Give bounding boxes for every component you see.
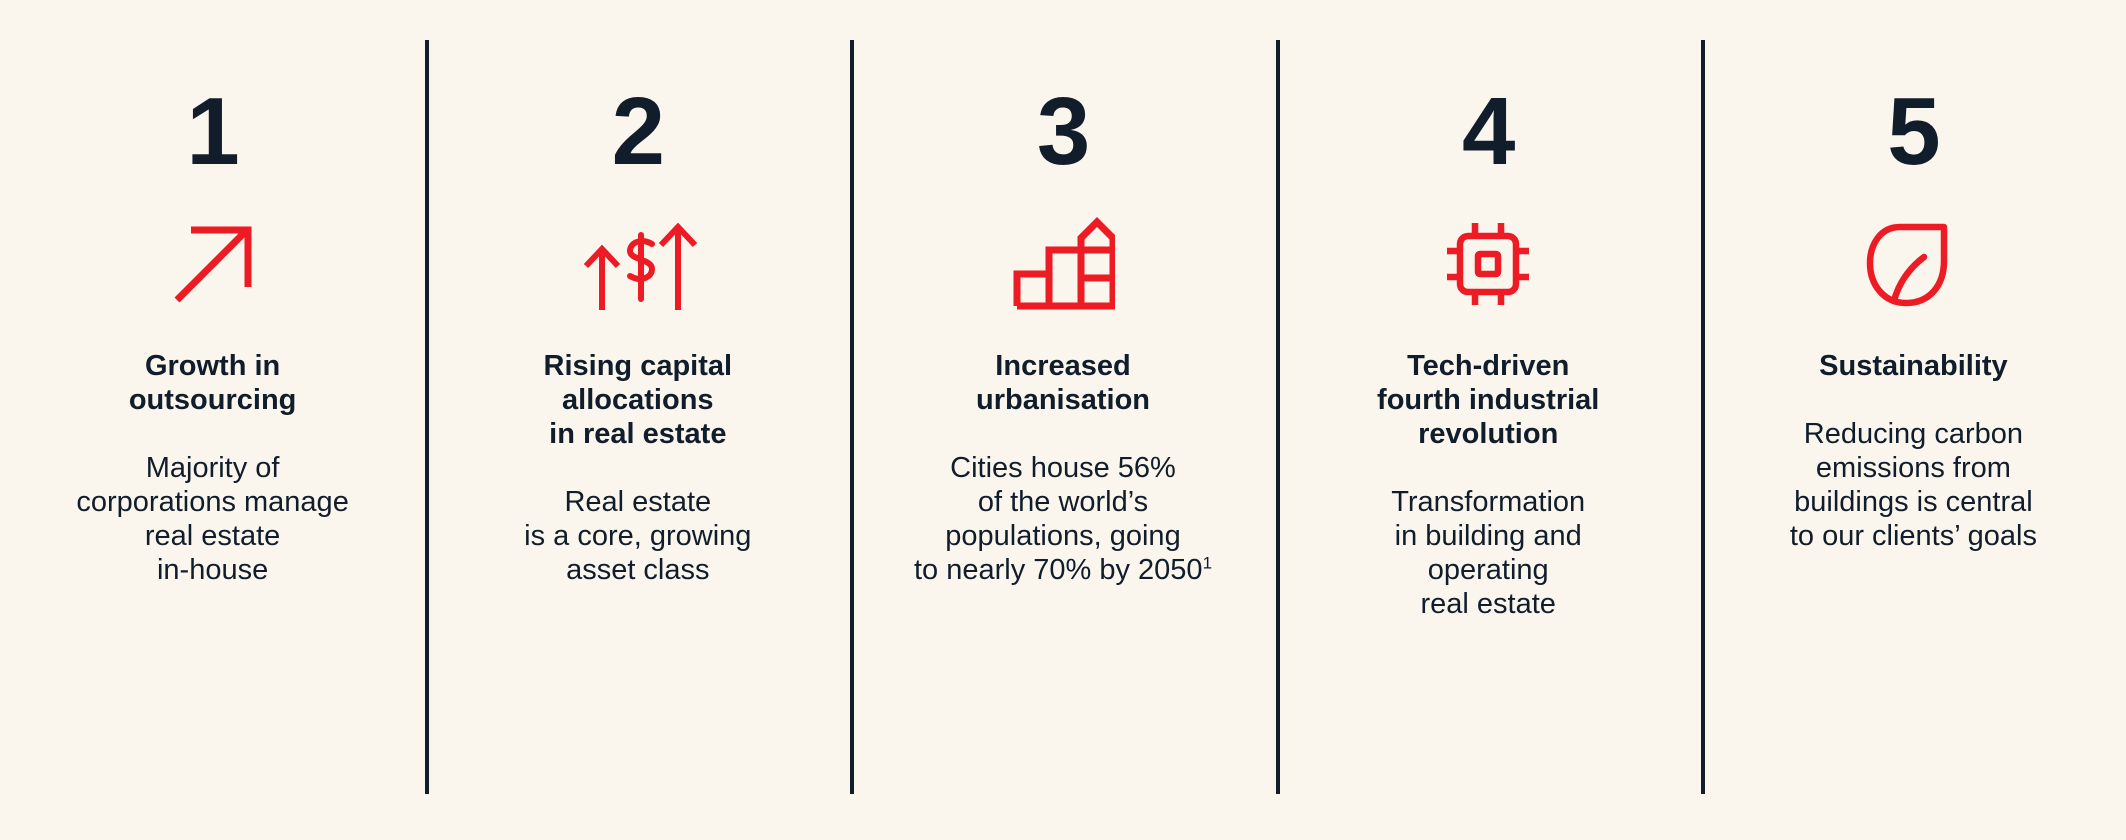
driver-column-1: 1 Growth in outsourcing Majority of corp… bbox=[0, 0, 425, 840]
leaf-icon bbox=[1864, 204, 1962, 324]
driver-body-3: Cities house 56% of the world’s populati… bbox=[904, 452, 1222, 588]
arrow-up-right-icon bbox=[165, 204, 261, 324]
driver-heading-5: Sustainability bbox=[1805, 350, 2022, 384]
arrows-up-dollar-icon bbox=[578, 204, 698, 324]
driver-body-4: Transformation in building and operating… bbox=[1381, 486, 1595, 622]
driver-number-1: 1 bbox=[186, 82, 238, 182]
driver-number-2: 2 bbox=[612, 82, 664, 182]
driver-column-3: 3 Increased urbanisation Cities house 56… bbox=[850, 0, 1275, 840]
driver-heading-4: Tech-driven fourth industrial revolution bbox=[1363, 350, 1613, 452]
footnote-marker-3: 1 bbox=[1203, 553, 1212, 572]
microchip-icon bbox=[1438, 204, 1538, 324]
driver-number-3: 3 bbox=[1037, 82, 1089, 182]
city-buildings-icon bbox=[1011, 204, 1115, 324]
driver-heading-3: Increased urbanisation bbox=[962, 350, 1164, 418]
driver-body-2: Real estate is a core, growing asset cla… bbox=[514, 486, 761, 588]
driver-heading-2: Rising capital allocations in real estat… bbox=[530, 350, 747, 452]
driver-body-5: Reducing carbon emissions from buildings… bbox=[1780, 418, 2047, 554]
driver-body-text-3: Cities house 56% of the world’s populati… bbox=[914, 452, 1203, 586]
driver-column-5: 5 Sustainability Reducing carbon emissio… bbox=[1701, 0, 2126, 840]
driver-number-4: 4 bbox=[1462, 82, 1514, 182]
driver-heading-1: Growth in outsourcing bbox=[115, 350, 311, 418]
driver-body-1: Majority of corporations manage real est… bbox=[66, 452, 358, 588]
five-drivers-panel: 1 Growth in outsourcing Majority of corp… bbox=[0, 0, 2126, 840]
driver-column-2: 2 Rising capital allocations in real est… bbox=[425, 0, 850, 840]
driver-column-4: 4 Tech-driven fourth industrial revoluti… bbox=[1276, 0, 1701, 840]
driver-number-5: 5 bbox=[1887, 82, 1939, 182]
